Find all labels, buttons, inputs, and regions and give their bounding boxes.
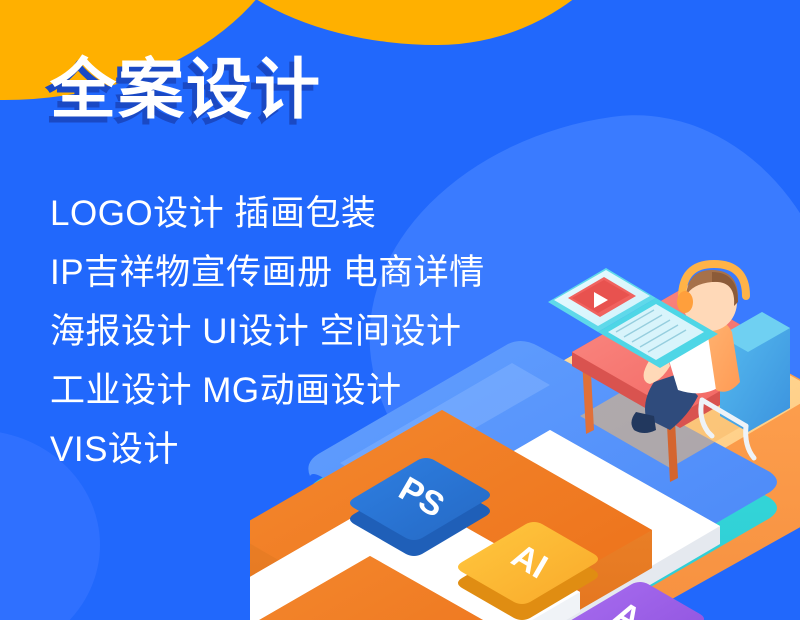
service-item-logo: LOGO设计 插画包装 (50, 196, 485, 231)
page-title: 全案设计 (50, 56, 322, 122)
background-blob-orange-right (180, 0, 660, 45)
isometric-illustration: PS AI Ae (250, 240, 800, 620)
design-service-banner: 全案设计 LOGO设计 插画包装 IP吉祥物宣传画册 电商详情 海报设计 UI设… (0, 0, 800, 620)
headline-wrap: 全案设计 (50, 56, 322, 122)
workspace-scene (548, 264, 790, 482)
